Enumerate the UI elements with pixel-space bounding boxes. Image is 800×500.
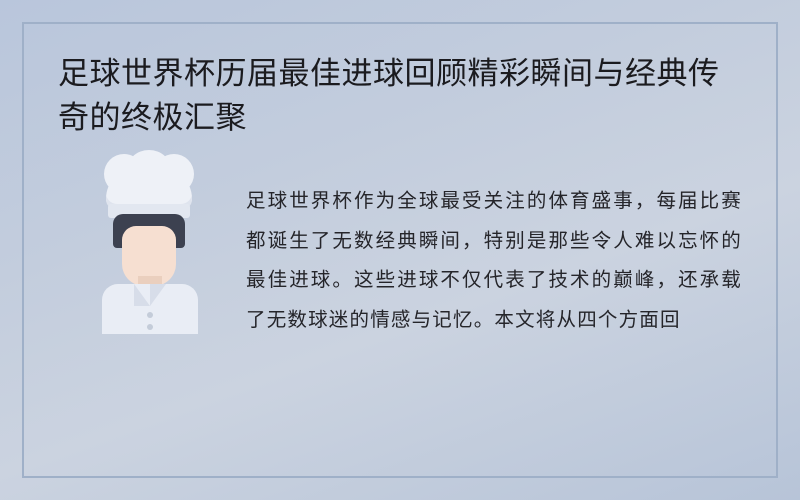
page-title: 足球世界杯历届最佳进球回顾精彩瞬间与经典传奇的终极汇聚 — [58, 52, 742, 140]
chef-character-icon — [80, 164, 220, 334]
collar-left-icon — [134, 284, 150, 306]
uniform-button-top-icon — [147, 312, 153, 318]
content-frame: 足球世界杯历届最佳进球回顾精彩瞬间与经典传奇的终极汇聚 足球世界杯 — [22, 22, 778, 478]
article-body-area: 足球世界杯作为全球最受关注的体育盛事，每届比赛都诞生了无数经典瞬间，特别是那些令… — [58, 158, 742, 361]
article-paragraph: 足球世界杯作为全球最受关注的体育盛事，每届比赛都诞生了无数经典瞬间，特别是那些令… — [246, 178, 742, 342]
uniform-button-bottom-icon — [147, 324, 153, 330]
collar-right-icon — [150, 284, 166, 306]
illustration-container — [80, 164, 220, 334]
article-page: 足球世界杯历届最佳进球回顾精彩瞬间与经典传奇的终极汇聚 足球世界杯 — [0, 0, 800, 500]
